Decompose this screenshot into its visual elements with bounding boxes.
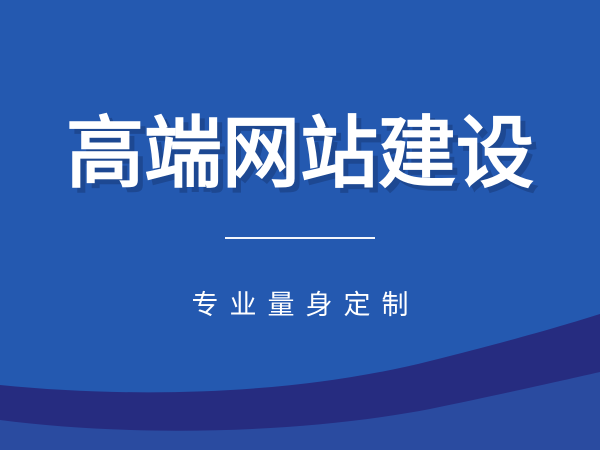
- banner-content: 高端网站建设 专业量身定制: [0, 0, 600, 450]
- page-subtitle: 专业量身定制: [181, 283, 420, 322]
- title-divider: [225, 237, 375, 239]
- promo-banner: 高端网站建设 专业量身定制: [0, 0, 600, 450]
- page-title: 高端网站建设: [66, 112, 534, 195]
